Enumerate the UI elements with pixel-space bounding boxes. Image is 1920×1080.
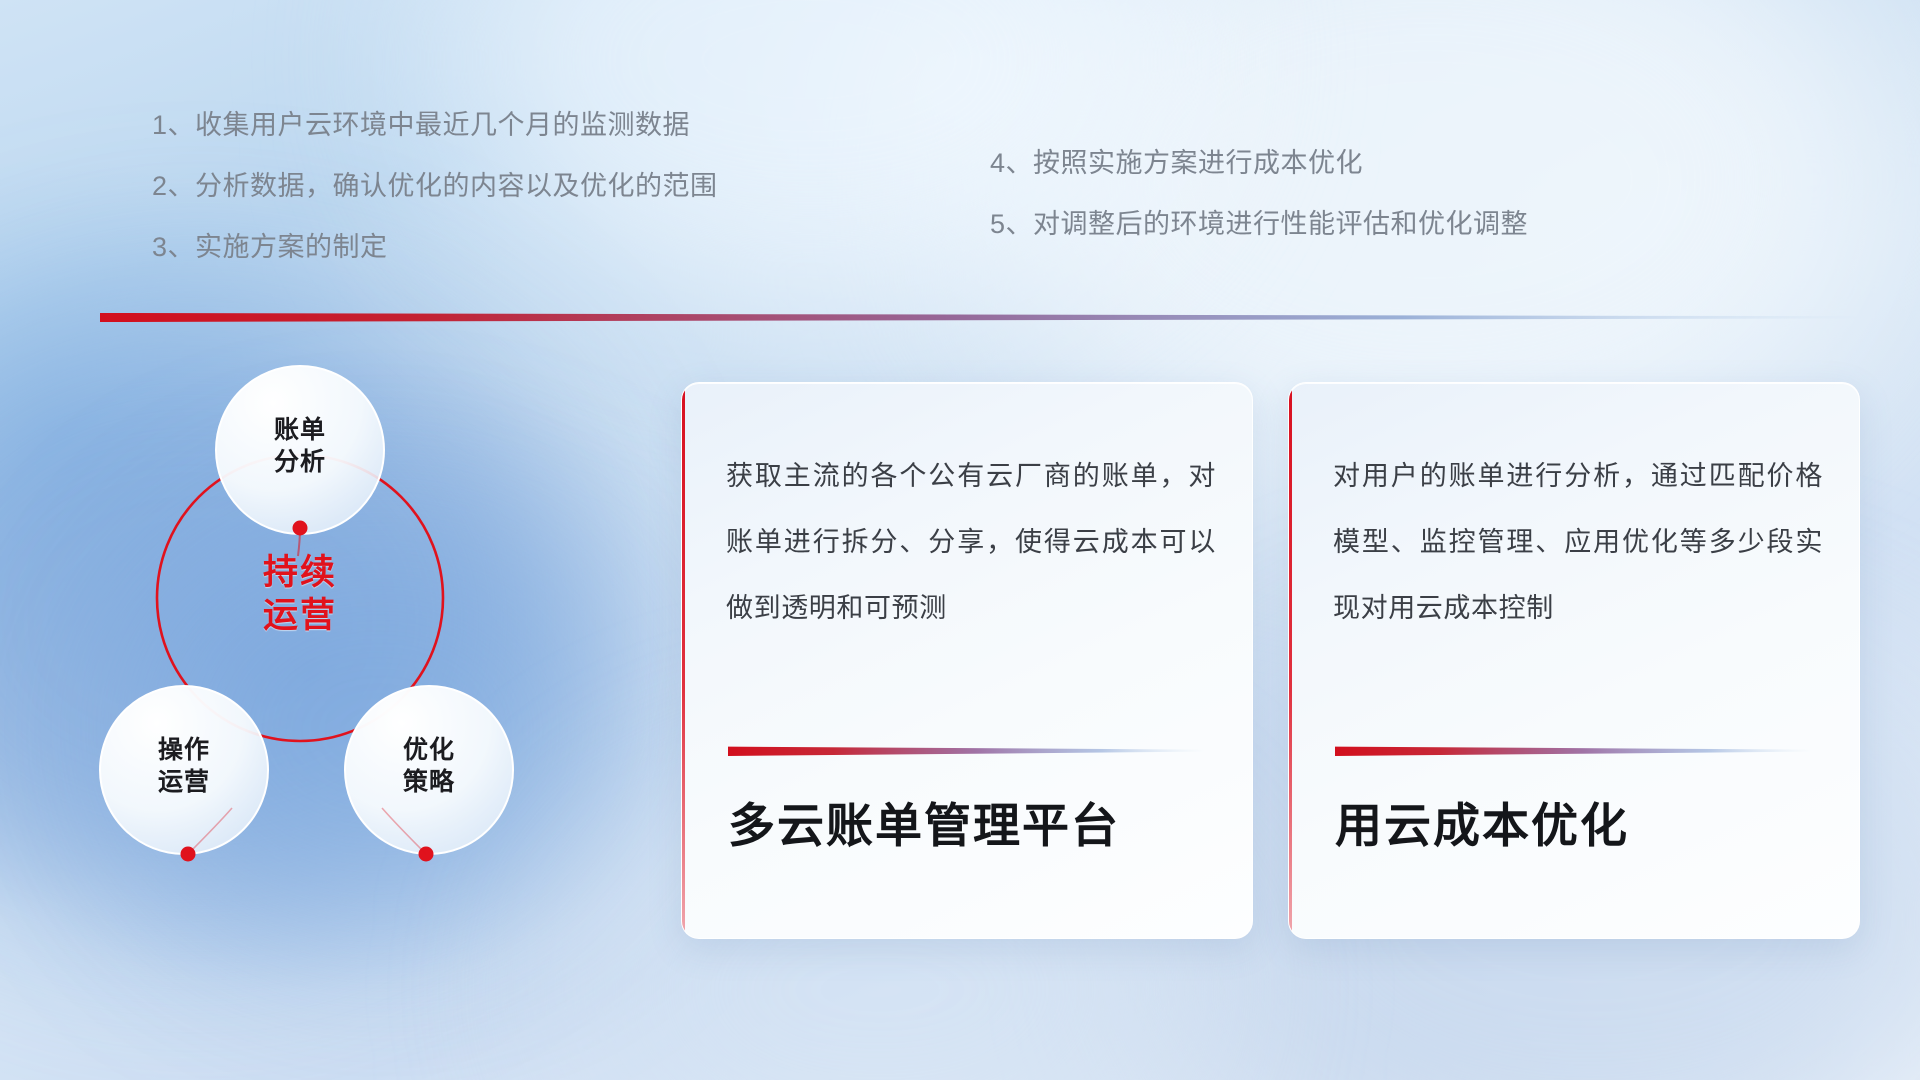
step-item-5: 5、对调整后的环境进行性能评估和优化调整 xyxy=(990,211,1528,238)
section-divider-shape xyxy=(100,313,1860,322)
venn-bubble-optimize-policy xyxy=(345,686,513,854)
steps-right-column: 4、按照实施方案进行成本优化 5、对调整后的环境进行性能评估和优化调整 xyxy=(990,150,1528,272)
card-divider-shape xyxy=(1335,746,1813,756)
slide-canvas: 1、收集用户云环境中最近几个月的监测数据 2、分析数据，确认优化的内容以及优化的… xyxy=(0,0,1920,1080)
card-title: 用云成本优化 xyxy=(1335,787,1829,856)
section-divider-rule xyxy=(100,313,1860,322)
card-divider-shape xyxy=(728,746,1206,756)
card-cloud-cost-optimization[interactable]: 对用户的账单进行分析，通过匹配价格模型、监控管理、应用优化等多少段实现对用云成本… xyxy=(1288,382,1860,939)
steps-left-column: 1、收集用户云环境中最近几个月的监测数据 2、分析数据，确认优化的内容以及优化的… xyxy=(152,112,718,295)
card-body-text: 获取主流的各个公有云厂商的账单，对账单进行拆分、分享，使得云成本可以做到透明和可… xyxy=(726,443,1216,641)
step-item-4: 4、按照实施方案进行成本优化 xyxy=(990,150,1528,177)
continuous-operation-venn-diagram: 账单 分析 操作 运营 优化 策略 持续 运营 xyxy=(92,350,592,910)
step-item-3: 3、实施方案的制定 xyxy=(152,234,718,261)
card-divider xyxy=(728,746,1206,756)
step-item-2: 2、分析数据，确认优化的内容以及优化的范围 xyxy=(152,173,718,200)
card-title: 多云账单管理平台 xyxy=(728,787,1222,856)
venn-bubble-operation-ops xyxy=(100,686,268,854)
card-body-text: 对用户的账单进行分析，通过匹配价格模型、监控管理、应用优化等多少段实现对用云成本… xyxy=(1333,443,1823,641)
step-item-1: 1、收集用户云环境中最近几个月的监测数据 xyxy=(152,112,718,139)
card-multi-cloud-billing-platform[interactable]: 获取主流的各个公有云厂商的账单，对账单进行拆分、分享，使得云成本可以做到透明和可… xyxy=(681,382,1253,939)
venn-bubble-bill-analysis xyxy=(216,366,384,534)
venn-shapes xyxy=(92,350,592,910)
card-divider xyxy=(1335,746,1813,756)
